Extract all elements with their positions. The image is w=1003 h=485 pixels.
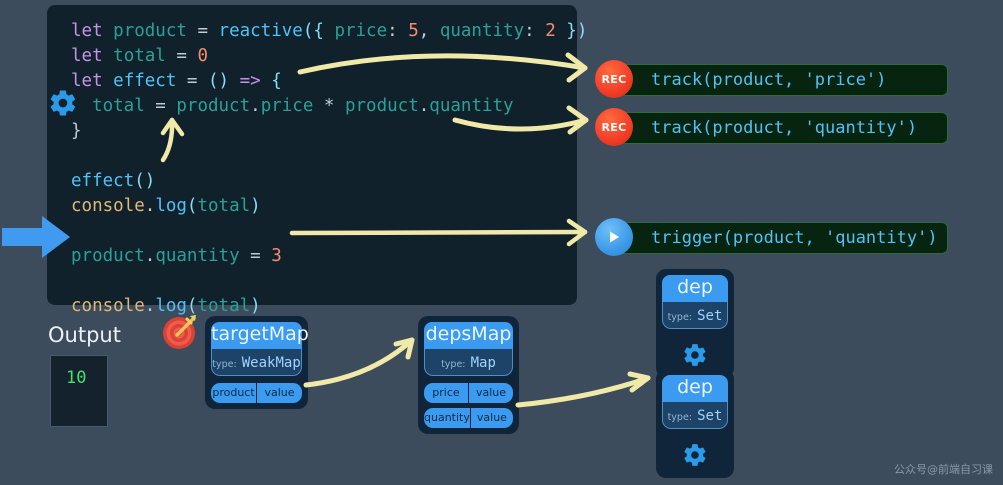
gear-icon [662, 336, 728, 372]
code-block: let product = reactive({ price: 5, quant… [47, 5, 577, 305]
kv-key: product [211, 383, 257, 403]
code-line-3: let effect = () => { [71, 69, 577, 94]
card-targetmap: targetMap type: WeakMap product value [205, 316, 308, 409]
output-value: 10 [66, 368, 86, 388]
type-label: type: [441, 359, 465, 370]
card-title: dep [662, 375, 728, 402]
arrow-right-icon [2, 216, 70, 258]
card-type-row: type: Set [662, 302, 728, 329]
callout-label: track(product, 'quantity') [651, 118, 917, 138]
watermark: 公众号@前端自习课 [894, 461, 993, 477]
output-label: Output [48, 323, 121, 347]
type-value: Map [471, 355, 496, 371]
code-line-7: effect() [71, 169, 577, 194]
callout-track-quantity: REC track(product, 'quantity') [606, 112, 948, 144]
arrow-targetmap-to-depsmap [306, 340, 412, 385]
code-line-5: } [71, 119, 577, 144]
output-box: 10 [50, 355, 108, 427]
type-value: WeakMap [242, 355, 301, 371]
code-line-2: let total = 0 [71, 44, 577, 69]
callout-label: track(product, 'price') [651, 70, 886, 90]
code-line-blank-1 [71, 144, 577, 169]
type-value: Set [697, 408, 722, 424]
card-title: depsMap [424, 322, 513, 349]
target-icon [160, 312, 200, 352]
rec-badge: REC [595, 60, 633, 98]
type-label: type: [212, 359, 236, 370]
card-type-row: type: Set [662, 402, 728, 429]
code-line-1: let product = reactive({ price: 5, quant… [71, 19, 577, 44]
card-title: targetMap [211, 322, 302, 349]
callout-label: trigger(product, 'quantity') [651, 228, 938, 248]
callout-track-price: REC track(product, 'price') [606, 64, 948, 96]
kv-key: price [424, 383, 469, 403]
card-dep-2: dep type: Set [656, 369, 734, 478]
card-type-row: type: Map [424, 349, 513, 376]
code-line-8: console.log(total) [71, 194, 577, 219]
arrow-depsmap-to-dep [518, 374, 648, 405]
rec-badge: REC [595, 108, 633, 146]
callout-trigger-quantity: trigger(product, 'quantity') [606, 222, 948, 254]
card-depsmap: depsMap type: Map price value quantity v… [418, 316, 519, 434]
kv-row: price value [424, 383, 513, 403]
type-label: type: [668, 312, 692, 323]
gear-icon [48, 88, 78, 118]
kv-row: product value [211, 383, 302, 403]
kv-row: quantity value [424, 408, 513, 428]
type-value: Set [697, 308, 722, 324]
kv-value: value [469, 383, 513, 403]
kv-key: quantity [424, 408, 471, 428]
card-dep-1: dep type: Set [656, 269, 734, 378]
type-label: type: [668, 412, 692, 423]
kv-value: value [471, 408, 513, 428]
play-icon [595, 218, 633, 256]
kv-value: value [257, 383, 302, 403]
card-title: dep [662, 275, 728, 302]
code-line-blank-2 [71, 219, 577, 244]
code-line-blank-3 [71, 269, 577, 294]
gear-icon [662, 436, 728, 472]
code-line-10: product.quantity = 3 [71, 244, 577, 269]
card-type-row: type: WeakMap [211, 349, 302, 376]
code-line-4: total = product.price * product.quantity [71, 94, 577, 119]
